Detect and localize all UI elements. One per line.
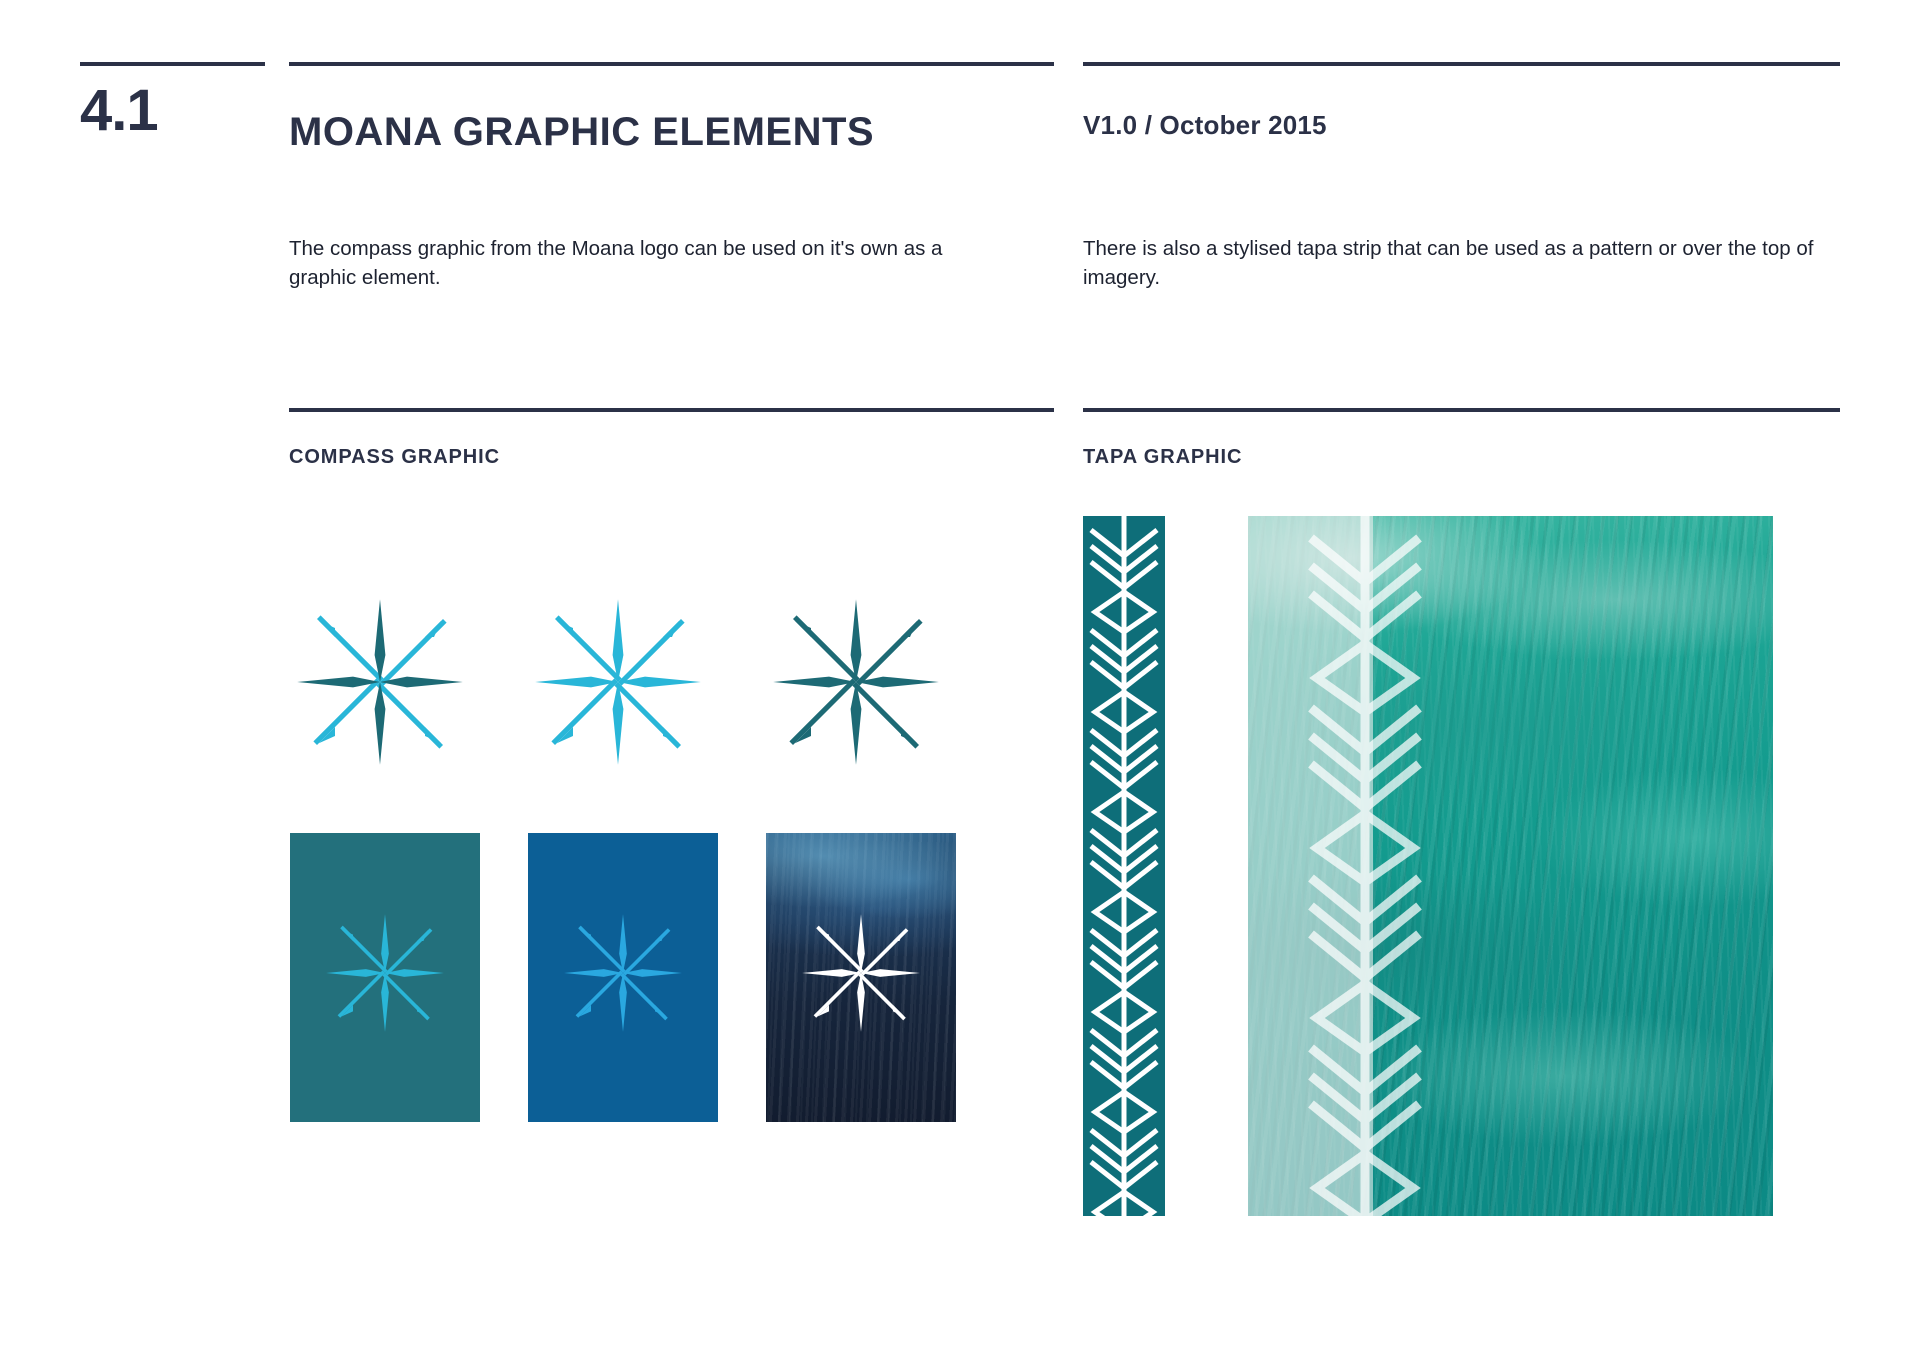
intro-text-compass: The compass graphic from the Moana logo … (289, 234, 1009, 292)
brand-guideline-page: 4.1 MOANA GRAPHIC ELEMENTS V1.0 / Octobe… (0, 0, 1920, 1358)
panel-teal (290, 833, 480, 1122)
star-petals (326, 914, 444, 1032)
tapa-overlay-strip (1298, 516, 1433, 1216)
compass-star-two-tone (290, 592, 470, 772)
rule-top-version (1083, 62, 1840, 66)
tapa-over-imagery (1248, 516, 1773, 1216)
section-label-tapa: TAPA GRAPHIC (1083, 447, 1242, 467)
rule-top-title (289, 62, 1054, 66)
section-label-compass: COMPASS GRAPHIC (289, 447, 500, 467)
rule-top-number (80, 62, 265, 66)
document-version: V1.0 / October 2015 (1083, 112, 1327, 138)
star-petals (802, 914, 920, 1032)
star-petals (564, 914, 682, 1032)
rule-section-compass (289, 408, 1054, 412)
compass-star-cyan (528, 592, 708, 772)
panel-blue (528, 833, 718, 1122)
section-number: 4.1 (80, 82, 158, 140)
tapa-overlay-motif (1311, 516, 1419, 1216)
tapa-strip (1083, 516, 1165, 1216)
page-title: MOANA GRAPHIC ELEMENTS (289, 112, 874, 152)
panel-ocean-photo (766, 833, 956, 1122)
rule-section-tapa (1083, 408, 1840, 412)
intro-text-tapa: There is also a stylised tapa strip that… (1083, 234, 1843, 292)
compass-star-on-photo (797, 909, 925, 1037)
compass-star-teal (766, 592, 946, 772)
compass-star-on-teal (321, 909, 449, 1037)
compass-star-on-blue (559, 909, 687, 1037)
